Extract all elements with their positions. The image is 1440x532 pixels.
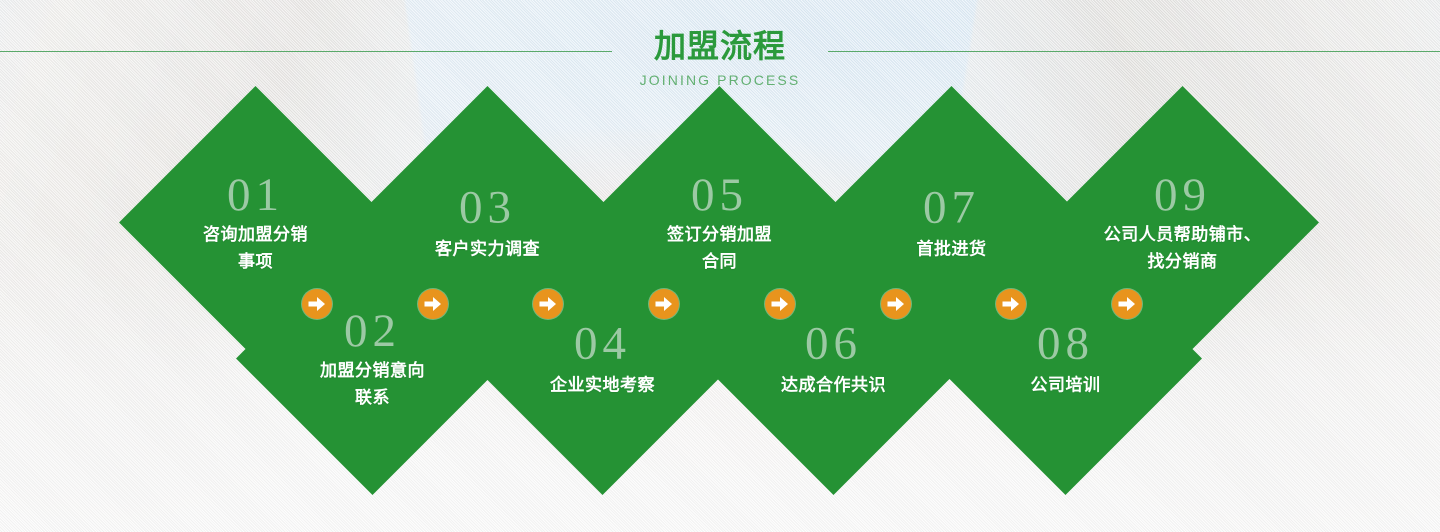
step-label-08-line-1: 公司培训	[951, 371, 1181, 398]
step-label-09-line-2: 找分销商	[1068, 248, 1298, 275]
step-label-02-line-1: 加盟分销意向	[258, 357, 488, 384]
step-label-06-line-1: 达成合作共识	[719, 371, 949, 398]
arrow-right-icon	[888, 297, 905, 312]
step-label-09-line-1: 公司人员帮助铺市、	[1068, 221, 1298, 248]
step-number-08: 08	[951, 319, 1181, 367]
step-number-09: 09	[1068, 171, 1298, 219]
arrow-02-to-03[interactable]	[418, 289, 448, 319]
arrow-right-icon	[772, 297, 789, 312]
step-label-05-line-1: 签订分销加盟	[605, 221, 835, 248]
arrow-right-icon	[1003, 297, 1020, 312]
step-content-09: 09 公司人员帮助铺市、 找分销商	[1068, 171, 1298, 275]
arrow-04-to-05[interactable]	[649, 289, 679, 319]
arrow-right-icon	[656, 297, 673, 312]
arrow-06-to-07[interactable]	[881, 289, 911, 319]
arrow-08-to-09[interactable]	[1112, 289, 1142, 319]
step-content-04: 04 企业实地考察	[488, 319, 718, 398]
joining-process-banner: 加盟流程 JOINING PROCESS 01 咨询加盟分销 事项 02 加盟分…	[0, 0, 1440, 532]
step-content-06: 06 达成合作共识	[719, 319, 949, 398]
arrow-03-to-04[interactable]	[533, 289, 563, 319]
step-number-04: 04	[488, 319, 718, 367]
step-content-03: 03 客户实力调查	[373, 183, 603, 262]
step-number-06: 06	[719, 319, 949, 367]
arrow-01-to-02[interactable]	[302, 289, 332, 319]
step-content-07: 07 首批进货	[837, 183, 1067, 262]
step-number-07: 07	[837, 183, 1067, 231]
arrow-right-icon	[425, 297, 442, 312]
step-number-03: 03	[373, 183, 603, 231]
arrow-05-to-06[interactable]	[765, 289, 795, 319]
step-number-01: 01	[141, 171, 371, 219]
arrow-right-icon	[540, 297, 557, 312]
step-label-04-line-1: 企业实地考察	[488, 371, 718, 398]
step-label-02-line-2: 联系	[258, 384, 488, 411]
arrow-right-icon	[1119, 297, 1136, 312]
arrow-07-to-08[interactable]	[996, 289, 1026, 319]
arrow-right-icon	[309, 297, 326, 312]
step-label-01-line-1: 咨询加盟分销	[141, 221, 371, 248]
process-flow: 01 咨询加盟分销 事项 02 加盟分销意向 联系 03 客户实力调查 04 企…	[0, 0, 1440, 532]
step-number-05: 05	[605, 171, 835, 219]
step-content-08: 08 公司培训	[951, 319, 1181, 398]
